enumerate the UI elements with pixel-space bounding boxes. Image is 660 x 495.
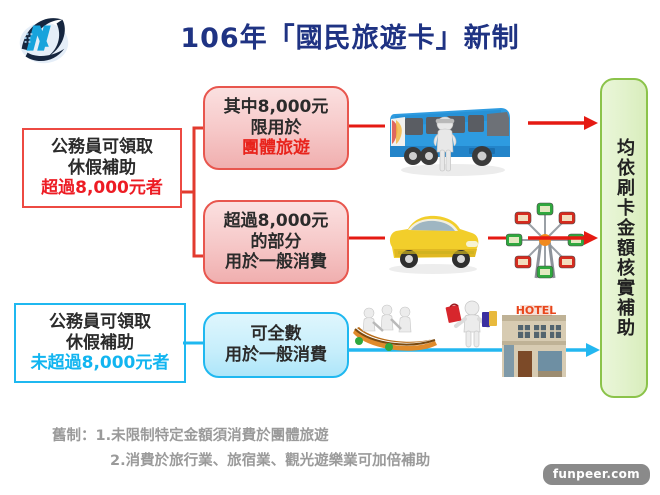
condition-line1: 公務員可領取 (49, 312, 151, 333)
rule-line3: 用於一般消費 (225, 252, 327, 273)
rule-line3-highlight: 團體旅遊 (242, 138, 310, 159)
rule-line1: 其中8,000元 (224, 97, 329, 118)
rule-line2: 限用於 (251, 118, 302, 139)
red-line-to-bus (349, 120, 385, 132)
rule-line1: 可全數 (251, 324, 302, 345)
condition-line2: 休假補助 (68, 158, 136, 179)
condition-line2: 休假補助 (66, 333, 134, 354)
footnote-line-2: 2.消費於旅行業、旅宿業、觀光遊樂業可加倍補助 (52, 449, 572, 474)
condition-line3-highlight: 超過8,000元者 (41, 178, 163, 199)
shopper-image (444, 298, 500, 350)
condition-line3-highlight: 未超過8,000元者 (31, 353, 170, 374)
infographic-canvas: 106年「國民旅遊卡」新制 公務員可領取 休假補助 超過8,000元者 公務員可… (0, 0, 660, 495)
rule-box-all-general: 可全數 用於一般消費 (203, 312, 349, 378)
result-panel: 均依刷卡金額核實補助 (600, 78, 648, 398)
condition-box-under-8000: 公務員可領取 休假補助 未超過8,000元者 (14, 303, 186, 383)
rule-box-group-tour: 其中8,000元 限用於 團體旅遊 (203, 86, 349, 170)
result-panel-text: 均依刷卡金額核實補助 (615, 138, 633, 338)
tour-bus-image (383, 86, 518, 178)
watermark: funpeer.com (543, 464, 650, 485)
page-title: 106年「國民旅遊卡」新制 (130, 16, 570, 55)
condition-line1: 公務員可領取 (51, 137, 153, 158)
footnote: 舊制：1.未限制特定金額須消費於團體旅遊 2.消費於旅行業、旅宿業、觀光遊樂業可… (52, 424, 572, 475)
condition-box-over-8000: 公務員可領取 休假補助 超過8,000元者 (22, 128, 182, 208)
ministry-logo (12, 8, 74, 70)
red-arrow-row2 (528, 228, 600, 248)
yellow-car-image (378, 205, 488, 277)
hotel-sign-text: HOTEL (516, 304, 557, 317)
rule-line2: 用於一般消費 (225, 345, 327, 366)
canoe-image (353, 297, 439, 355)
rule-line2: 的部分 (251, 232, 302, 253)
hotel-image: HOTEL (494, 297, 574, 381)
red-arrow-row1 (528, 113, 600, 133)
rule-line1: 超過8,000元 (224, 211, 329, 232)
footnote-line-1: 舊制：1.未限制特定金額須消費於團體旅遊 (52, 428, 329, 444)
rule-box-excess-general: 超過8,000元 的部分 用於一般消費 (203, 200, 349, 284)
